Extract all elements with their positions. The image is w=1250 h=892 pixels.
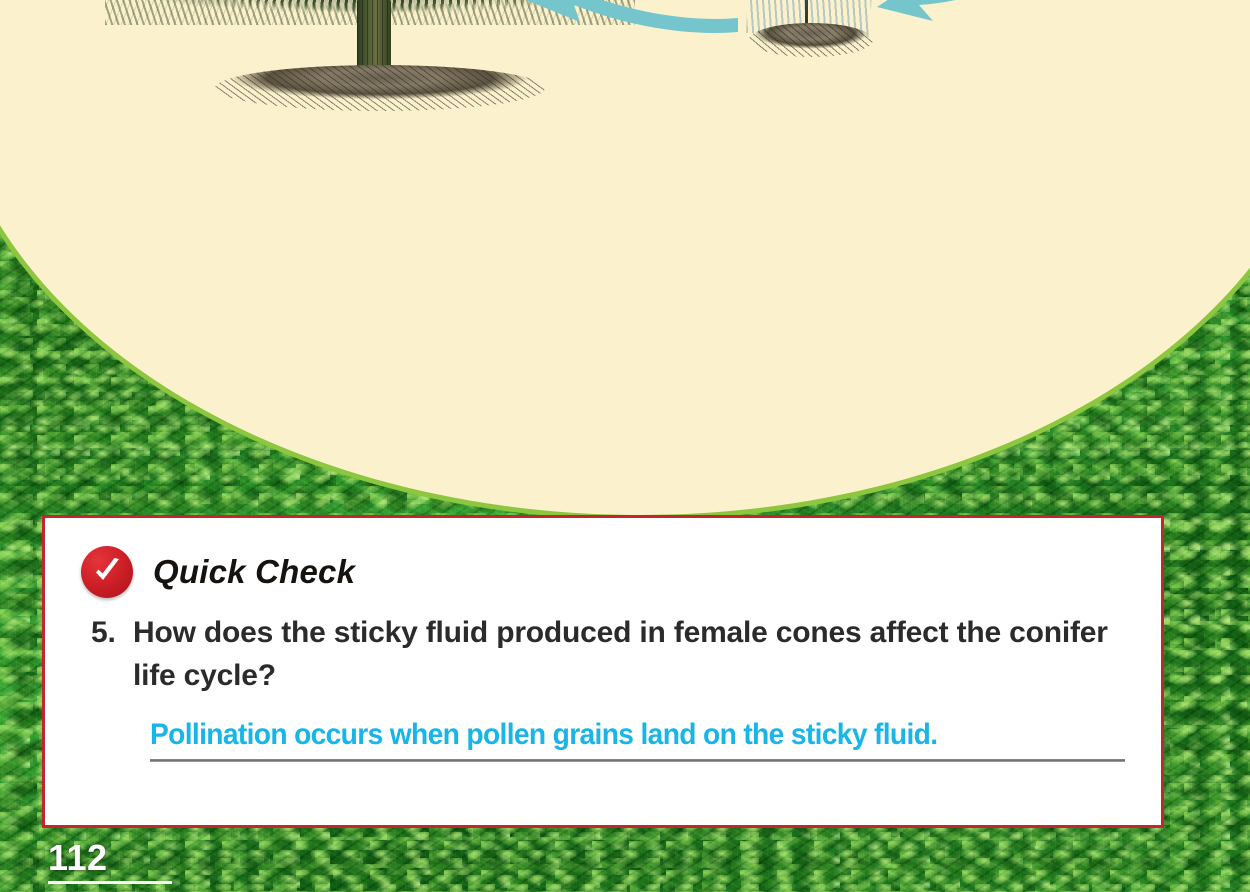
quick-check-box: Quick Check 5. How does the sticky fluid…	[42, 515, 1164, 828]
seedling-illustration	[745, 0, 873, 57]
page-number: 112	[48, 840, 172, 876]
arrow-seeds-to-seedling	[875, 0, 1105, 33]
check-circle-icon	[81, 546, 133, 598]
question-number: 5.	[91, 612, 133, 697]
page-number-rule	[48, 881, 172, 884]
question-row: 5. How does the sticky fluid produced in…	[45, 598, 1161, 697]
answer-text[interactable]: Pollination occurs when pollen grains la…	[150, 717, 1063, 753]
arrow-seedling-to-adult	[502, 0, 742, 50]
seedling-soil-mound	[749, 23, 873, 57]
page-footer: 112	[48, 840, 172, 884]
question-text: How does the sticky fluid produced in fe…	[133, 612, 1121, 697]
quick-check-header: Quick Check	[45, 518, 1161, 598]
tree-soil-mound	[215, 65, 545, 111]
answer-write-line	[150, 759, 1125, 762]
answer-area[interactable]: Pollination occurs when pollen grains la…	[45, 697, 1161, 762]
quick-check-title: Quick Check	[153, 553, 355, 591]
textbook-page: adult plant female cones pine seeds seed…	[0, 0, 1250, 892]
life-cycle-diagram-oval: adult plant female cones pine seeds seed…	[0, 0, 1250, 520]
